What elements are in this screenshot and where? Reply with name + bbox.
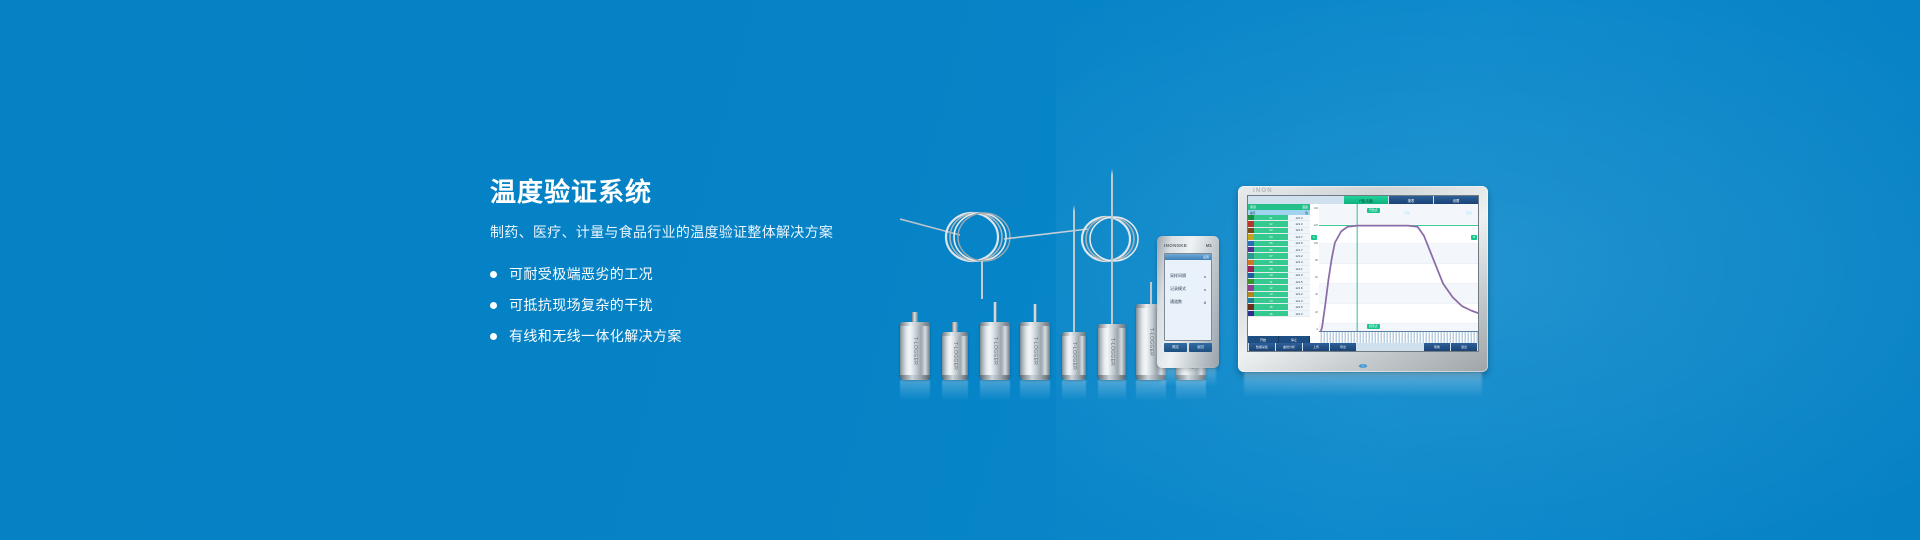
cell-channel: 10 [1254,273,1288,278]
probe-1: T-LOGGER [900,322,930,380]
probe-stem [994,302,997,322]
cell-channel: 02 [1254,221,1288,226]
subcolumn-header-value: 值 [1305,211,1308,215]
toolbar-analyze-button[interactable]: 曲线分析 [1276,343,1302,351]
etch-label: T-LOGGER [1071,342,1077,370]
cell-temp: 121.4 [1288,298,1310,303]
y-tick: 100 [1314,242,1318,245]
reflection [980,380,1010,406]
logger-body: T-LOGGER [900,322,930,380]
tab-f-value[interactable]: F值-灭菌 [1344,196,1388,204]
cell-channel: 04 [1254,234,1288,239]
chart-plot-area [1319,204,1478,343]
column-header-temp: 温度 [1302,205,1308,209]
probe-5: T-LOGGER [1062,332,1086,380]
cell-channel: 14 [1254,298,1288,303]
reflection [1098,380,1126,406]
toolbar-upload-button[interactable]: 上传 [1303,343,1329,351]
y-tick: 20 [1315,311,1318,314]
chart-marker-a[interactable]: A [1311,235,1317,240]
monitor-bezel: INON F值-灭菌 报表 设置 通道 温度 编号 [1238,186,1488,372]
chart-marker-b[interactable]: B [1471,235,1477,240]
reflection [942,380,968,406]
hero-banner: 温度验证系统 制药、医疗、计量与食品行业的温度验证整体解决方案 可耐受极端恶劣的… [0,0,1920,540]
table-row[interactable]: 16121.3 [1248,311,1310,317]
list-item[interactable]: 通道数 8 [1170,299,1206,305]
probe-6: T-LOGGER [1098,324,1126,380]
cell-temp: 121.3 [1288,221,1310,226]
monitor-screen[interactable]: F值-灭菌 报表 设置 通道 温度 编号 值 [1247,195,1479,352]
probe-cap [912,312,918,322]
cell-temp: 121.5 [1288,279,1310,284]
feature-label: 可抵抗现场复杂的干扰 [509,295,653,315]
column-header-channel: 通道 [1250,205,1256,209]
chart-legend-2: 恒温 [1466,211,1472,215]
bullet-dot-icon [490,302,497,309]
cell-channel: 11 [1254,279,1288,284]
list-item[interactable]: 采样间隔 s [1170,273,1206,279]
setting-value: s [1204,287,1206,292]
y-tick: 120 [1314,224,1318,227]
etch-label: T-LOGGER [1032,337,1038,365]
etch-label: T-LOGGER [912,337,918,365]
etch-label: T-LOGGER [992,337,998,365]
handheld-reader[interactable]: INONSKE M1 设置 采样间隔 s 记录模式 s 通道数 8 [1157,236,1219,368]
cell-temp: 121.7 [1288,247,1310,252]
needle-probe [1073,212,1075,332]
reflection [1062,380,1086,406]
cell-channel: 15 [1254,304,1288,309]
cell-temp: 121.4 [1288,215,1310,220]
probe-2: T-LOGGER [942,332,968,380]
toolbar-acquire-button[interactable]: 数据采集 [1249,343,1275,351]
probe-4: T-LOGGER [1020,322,1050,380]
cell-channel: 01 [1254,215,1288,220]
reflection [1020,380,1050,406]
feature-label: 有线和无线一体化解决方案 [509,326,682,346]
reflection [900,380,930,406]
bullet-dot-icon [490,333,497,340]
start-button[interactable]: 开始 [1248,336,1279,343]
software-toolbar: 数据采集 曲线分析 上传 导出 帮助 退出 [1248,343,1478,351]
handheld-settings-list: 采样间隔 s 记录模式 s 通道数 8 [1165,260,1211,340]
probe-3: T-LOGGER [980,322,1010,380]
y-tick: 0 [1317,328,1318,331]
chart-y-axis: 140 120 100 80 60 40 20 0 [1310,204,1319,331]
logger-body: T-LOGGER [1098,324,1126,380]
cell-temp: 121.5 [1288,304,1310,309]
cell-temp: 121.7 [1288,234,1310,239]
subcolumn-header-id: 编号 [1250,211,1256,215]
handheld-screen[interactable]: 设置 采样间隔 s 记录模式 s 通道数 8 [1164,253,1212,341]
handheld-brandbar: INONSKE M1 [1160,239,1216,252]
bullet-dot-icon [490,271,497,278]
setting-label: 采样间隔 [1170,273,1186,279]
etch-label: T-LOGGER [1148,328,1154,356]
y-tick: 140 [1314,207,1318,210]
cell-channel: 16 [1254,311,1288,316]
logger-body: T-LOGGER [980,322,1010,380]
chart-end-badge[interactable]: 结束点 [1367,324,1379,329]
cell-temp: 121.2 [1288,253,1310,258]
handheld-brand: INONSKE [1164,243,1187,248]
y-tick: 40 [1315,293,1318,296]
handheld-buttons: 确定 返回 [1160,341,1216,352]
cell-temp: 121.3 [1288,311,1310,316]
setting-label: 记录模式 [1170,286,1186,292]
cell-channel: 13 [1254,292,1288,297]
probe-stem [1034,304,1037,322]
probe-cap [952,322,958,332]
reflection [1160,368,1216,390]
cell-channel: 12 [1254,285,1288,290]
cell-channel: 05 [1254,241,1288,246]
feature-label: 可耐受极端恶劣的工况 [509,264,653,284]
handheld-back-button[interactable]: 返回 [1189,343,1212,352]
validation-software-monitor: INON F值-灭菌 报表 设置 通道 温度 编号 [1238,186,1488,372]
probe-stem [1150,282,1152,304]
chart-legend-1: 升温 [1404,211,1410,215]
handheld-screen-title: 设置 [1203,255,1209,259]
monitor-brand: INON [1253,188,1273,194]
channel-table[interactable]: 通道 温度 编号 值 01121.4 02121.3 03121.5 04121… [1248,204,1310,343]
y-tick: 80 [1315,259,1318,262]
tab-settings[interactable]: 设置 [1434,196,1478,204]
needle-probe [1111,176,1113,324]
handheld-confirm-button[interactable]: 确定 [1164,343,1187,352]
cell-temp: 121.1 [1288,266,1310,271]
setting-label: 通道数 [1170,299,1182,305]
cell-temp: 121.3 [1288,273,1310,278]
software-body: 通道 温度 编号 值 01121.4 02121.3 03121.5 04121… [1248,204,1478,343]
setting-value: 8 [1204,300,1206,305]
monitor-power-led [1359,364,1367,368]
cell-temp: 121.5 [1288,228,1310,233]
cell-temp: 121.6 [1288,285,1310,290]
y-tick: 60 [1315,276,1318,279]
logger-body: T-LOGGER [942,332,968,380]
list-item[interactable]: 记录模式 s [1170,286,1206,292]
software-tabbar: F值-灭菌 报表 设置 [1248,196,1478,204]
logger-body: T-LOGGER [1062,332,1086,380]
chart-x-axis [1319,331,1478,343]
table-footer: 开始 停止 [1248,336,1310,343]
table-body: 01121.4 02121.3 03121.5 04121.7 05121.6 … [1248,215,1310,336]
toolbar-export-button[interactable]: 导出 [1330,343,1356,351]
etch-label: T-LOGGER [952,342,958,370]
cell-channel: 03 [1254,228,1288,233]
toolbar-help-button[interactable]: 帮助 [1424,343,1450,351]
toolbar-exit-button[interactable]: 退出 [1451,343,1477,351]
tab-report[interactable]: 报表 [1389,196,1433,204]
setting-value: s [1204,274,1206,279]
reflection [1244,372,1482,402]
toolbar-spacer [1357,343,1423,351]
stop-button[interactable]: 停止 [1279,336,1310,343]
cell-channel: 06 [1254,247,1288,252]
logger-body: T-LOGGER [1020,322,1050,380]
handheld-model: M1 [1206,243,1212,248]
cell-channel: 08 [1254,260,1288,265]
cell-channel: 07 [1254,253,1288,258]
tabbar-spacer [1248,196,1343,204]
cell-temp: 121.4 [1288,260,1310,265]
cell-temp: 121.2 [1288,292,1310,297]
cell-channel: 09 [1254,266,1288,271]
etch-label: T-LOGGER [1109,338,1115,366]
chart-start-badge[interactable]: 开始点 [1367,208,1379,213]
temperature-chart[interactable]: 140 120 100 80 60 40 20 0 [1310,204,1478,343]
cell-temp: 121.6 [1288,241,1310,246]
